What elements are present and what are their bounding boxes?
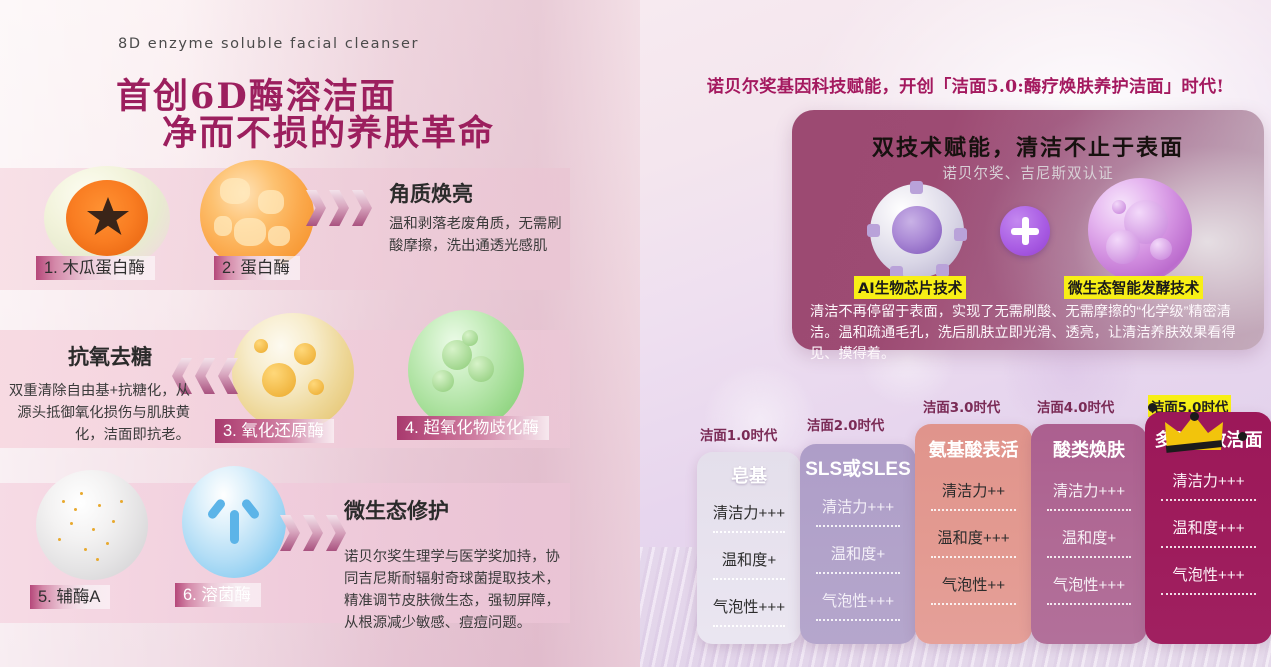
metric-divider bbox=[1161, 499, 1256, 501]
column-metric: 清洁力+++ bbox=[697, 498, 801, 528]
metric-divider bbox=[931, 509, 1016, 511]
page-title-line2: 净而不损的养肤革命 bbox=[162, 105, 495, 156]
oxidoreductase-orb-icon bbox=[232, 313, 354, 431]
sod-orb-icon bbox=[408, 310, 524, 430]
metric-divider bbox=[1047, 603, 1131, 605]
section-heading-3: 微生态修护 bbox=[344, 495, 449, 525]
column-title-4: 酸类焕肤 bbox=[1031, 436, 1147, 462]
section-heading-1: 角质焕亮 bbox=[389, 178, 473, 208]
metric-divider bbox=[816, 572, 900, 574]
metric-divider bbox=[713, 531, 785, 533]
eyebrow-text: 8D enzyme soluble facial cleanser bbox=[118, 36, 419, 52]
left-panel: 8D enzyme soluble facial cleanser 首创6D酶溶… bbox=[0, 0, 640, 667]
metric-divider bbox=[1161, 593, 1256, 595]
metric-divider bbox=[931, 556, 1016, 558]
column-metric: 清洁力+++ bbox=[800, 492, 916, 522]
infographic-root: 8D enzyme soluble facial cleanser 首创6D酶溶… bbox=[0, 0, 1271, 667]
comparison-column-2[interactable]: SLS或SLES 清洁力+++ 温和度+ 气泡性+++ bbox=[800, 444, 916, 644]
metric-divider bbox=[816, 619, 900, 621]
column-metric: 温和度+++ bbox=[915, 523, 1032, 553]
column-metric: 清洁力+++ bbox=[1145, 466, 1271, 496]
column-metric: 温和度+ bbox=[800, 539, 916, 569]
column-metric: 温和度+++ bbox=[1145, 513, 1271, 543]
right-headline: 诺贝尔奖基因科技赋能，开创「洁面5.0:酶疗焕肤养护洁面」时代! bbox=[658, 72, 1271, 97]
metric-divider bbox=[1047, 556, 1131, 558]
column-metric: 清洁力++ bbox=[915, 476, 1032, 506]
ingredient-chip-6: 6. 溶菌酶 bbox=[175, 583, 261, 607]
ingredient-chip-5: 5. 辅酶A bbox=[30, 585, 110, 609]
column-metric: 温和度+ bbox=[1031, 523, 1147, 553]
protease-orb-icon bbox=[200, 160, 314, 270]
column-metric: 气泡性+++ bbox=[1031, 570, 1147, 600]
right-panel: 诺贝尔奖基因科技赋能，开创「洁面5.0:酶疗焕肤养护洁面」时代! 双技术赋能，清… bbox=[640, 0, 1271, 667]
ai-tech-label: AI生物芯片技术 bbox=[854, 276, 966, 299]
era-label-3: 洁面3.0时代 bbox=[923, 396, 1000, 416]
column-metric: 清洁力+++ bbox=[1031, 476, 1147, 506]
crown-dot bbox=[1238, 432, 1247, 441]
metric-divider bbox=[1047, 509, 1131, 511]
column-metric: 气泡性+++ bbox=[1145, 560, 1271, 590]
papaya-orb-icon bbox=[44, 166, 170, 270]
comparison-column-1[interactable]: 皂基 清洁力+++ 温和度+ 气泡性+++ bbox=[697, 452, 801, 644]
ai-biochip-orb-icon bbox=[870, 184, 964, 278]
column-title-1: 皂基 bbox=[697, 462, 801, 488]
column-metric: 气泡性+++ bbox=[800, 586, 916, 616]
chevron-right-icon-1 bbox=[306, 190, 372, 226]
lysozyme-orb-icon bbox=[182, 466, 286, 578]
column-title-3: 氨基酸表活 bbox=[915, 436, 1032, 462]
comparison-column-3[interactable]: 氨基酸表活 清洁力++ 温和度+++ 气泡性++ bbox=[915, 424, 1032, 644]
ingredient-chip-1: 1. 木瓜蛋白酶 bbox=[36, 256, 155, 280]
section-body-2: 双重清除自由基+抗糖化，从源头抵御氧化损伤与肌肤黄化，洁面即抗老。 bbox=[4, 380, 190, 446]
ingredient-chip-4: 4. 超氧化物歧化酶 bbox=[397, 416, 549, 440]
metric-divider bbox=[931, 603, 1016, 605]
era-label-4: 洁面4.0时代 bbox=[1037, 396, 1114, 416]
fermentation-tech-label: 微生态智能发酵技术 bbox=[1064, 276, 1203, 299]
ingredient-chip-3: 3. 氧化还原酶 bbox=[215, 419, 334, 443]
plus-icon bbox=[1000, 206, 1050, 256]
crown-dot bbox=[1148, 403, 1157, 412]
comparison-column-4[interactable]: 酸类焕肤 清洁力+++ 温和度+ 气泡性+++ bbox=[1031, 424, 1147, 644]
column-title-2: SLS或SLES bbox=[800, 454, 916, 481]
tech-card-subtitle: 诺贝尔奖、吉尼斯双认证 bbox=[792, 162, 1264, 183]
column-metric: 气泡性++ bbox=[915, 570, 1032, 600]
tech-card-description: 清洁不再停留于表面，实现了无需刷酸、无需摩擦的“化学级”精密清洁。温和疏通毛孔，… bbox=[810, 302, 1254, 365]
ingredient-chip-2: 2. 蛋白酶 bbox=[214, 256, 300, 280]
era-label-1: 洁面1.0时代 bbox=[700, 424, 777, 444]
metric-divider bbox=[713, 625, 785, 627]
metric-divider bbox=[713, 578, 785, 580]
section-body-1: 温和剥落老废角质，无需刷酸摩擦，洗出通透光感肌 bbox=[389, 213, 569, 257]
metric-divider bbox=[816, 525, 900, 527]
era-label-2: 洁面2.0时代 bbox=[807, 414, 884, 434]
tech-card-title: 双技术赋能，清洁不止于表面 bbox=[792, 130, 1264, 162]
coenzyme-a-orb-icon bbox=[36, 470, 148, 580]
column-metric: 气泡性+++ bbox=[697, 592, 801, 622]
section-body-3: 诺贝尔奖生理学与医学奖加持，协同吉尼斯耐辐射奇球菌提取技术，精准调节皮肤微生态，… bbox=[344, 546, 569, 634]
section-heading-2: 抗氧去糖 bbox=[68, 341, 152, 371]
column-metric: 温和度+ bbox=[697, 545, 801, 575]
fermentation-orb-icon bbox=[1088, 178, 1192, 282]
chevron-right-icon-3 bbox=[280, 515, 346, 551]
crown-dot bbox=[1190, 412, 1199, 421]
ai-biochip-core bbox=[892, 206, 942, 254]
lysozyme-y-shape bbox=[208, 492, 260, 548]
metric-divider bbox=[1161, 546, 1256, 548]
